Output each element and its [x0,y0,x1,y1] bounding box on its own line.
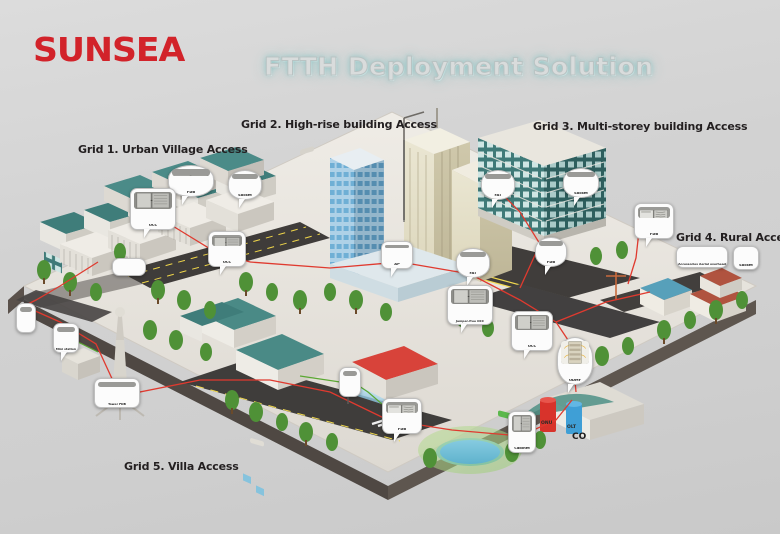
fdb-box-thumbnail [386,402,418,413]
callout-caption: Jumper-free OCC [448,320,492,323]
grid-label-grid3: Grid 3. Multi-storey building Access [533,120,747,133]
callout-caption: AP [382,263,412,267]
callout-caption: Cabinet [509,447,535,451]
callout-caption: Accessories Aerial overhead [677,263,727,266]
callout-c-rect-left[interactable] [112,258,146,276]
callout-caption: Socket [734,264,758,268]
grid-label-grid5: Grid 5. Villa Access [124,460,239,473]
fdb-box-thumbnail [638,207,670,218]
cabinet-thumbnail [515,315,549,330]
callout-caption: FDB [635,233,673,237]
callout-tail [391,268,397,277]
fat-thumbnail [485,174,511,179]
callout-tail [144,229,150,238]
callout-tail [461,324,467,333]
co-tank-label-onu: ONU [541,420,553,426]
grid-label-grid1: Grid 1. Urban Village Access [78,143,248,156]
callout-c-post-villa[interactable] [339,367,361,397]
mini-thumbnail [57,327,75,332]
callout-c-socket-village[interactable]: Socket [228,170,262,200]
post-thumbnail [343,371,357,376]
callout-c-tower-fdb[interactable]: Tower FDB [94,378,140,408]
callout-caption: OCC [512,345,552,349]
callout-tail [646,238,652,247]
cabinet-thumbnail [451,289,489,304]
towerfdb-thumbnail [98,382,136,387]
fat-thumbnail [460,252,486,257]
callout-tail [524,350,530,359]
callout-caption: FDB [383,428,421,432]
cabinet-thumbnail [212,235,242,246]
callout-tail [220,266,226,275]
post-thumbnail [20,307,32,312]
callout-c-ap-highrise[interactable]: AP [381,241,413,269]
callout-c-socket-multi[interactable]: Socket [563,168,599,198]
co-label: CO [572,432,586,442]
callout-tail [182,196,188,205]
grid-label-grid4: Grid 4. Rural Access [676,231,780,244]
callout-c-occ-jumper[interactable]: Jumper-free OCC [447,285,493,325]
callout-tail [492,199,498,208]
ap-thumbnail [385,245,409,248]
callout-c-occ-village[interactable]: OCC [130,188,176,230]
callout-caption: Socket [229,194,261,198]
co-tank-label-olt: OLT [567,424,577,430]
socket-thumbnail [567,172,595,177]
callout-c-fdb-highrise[interactable]: FDB [535,237,567,267]
fdb-box-thumbnail [172,169,210,176]
callout-tail [568,384,574,393]
callout-c-occ-street[interactable]: OCC [208,231,246,267]
callout-caption: FAT [457,272,489,276]
callout-c-fat-highrise[interactable]: FAT [456,248,490,278]
odmf-thumbnail [561,341,589,364]
callout-caption: ODMF [558,379,592,383]
callout-caption: Mini station [54,348,78,351]
callout-c-odmf[interactable]: ODMF [557,337,593,385]
grid-label-grid2: Grid 2. High-rise building Access [241,118,437,131]
callout-c-mini-station[interactable]: Mini station [53,323,79,353]
socket-thumbnail [232,174,258,179]
callout-c-fdb-rural[interactable]: FDB [634,203,674,239]
callout-c-post-left[interactable] [16,303,36,333]
callout-c-fat-multi[interactable]: FAT [481,170,515,200]
callout-caption: Socket [564,192,598,196]
callout-caption: FDB [536,261,566,265]
callout-tail [574,197,580,206]
callout-tail [394,433,400,442]
callout-tail [61,352,67,361]
callout-caption: OCC [209,261,245,265]
callout-c-acc-rural[interactable]: Accessories Aerial overhead [676,246,728,268]
callout-tail [239,199,245,208]
callout-caption: Tower FDB [95,403,139,406]
callout-c-fdb-villa[interactable]: FDB [382,398,422,434]
callout-caption: OCC [131,224,175,228]
ftth-deployment-poster: SUNSEA FTTH Deployment Solution [0,0,780,534]
callout-c-cabinet-co[interactable]: Cabinet [508,411,536,453]
socket-thumbnail [539,241,563,246]
callout-tail [545,266,551,275]
cabinet-thumbnail [134,192,172,209]
cabinet-thumbnail [512,415,532,432]
callout-c-occ-lower[interactable]: OCC [511,311,553,351]
callout-caption: FAT [482,194,514,198]
callout-c-socket-rural[interactable]: Socket [733,246,759,270]
